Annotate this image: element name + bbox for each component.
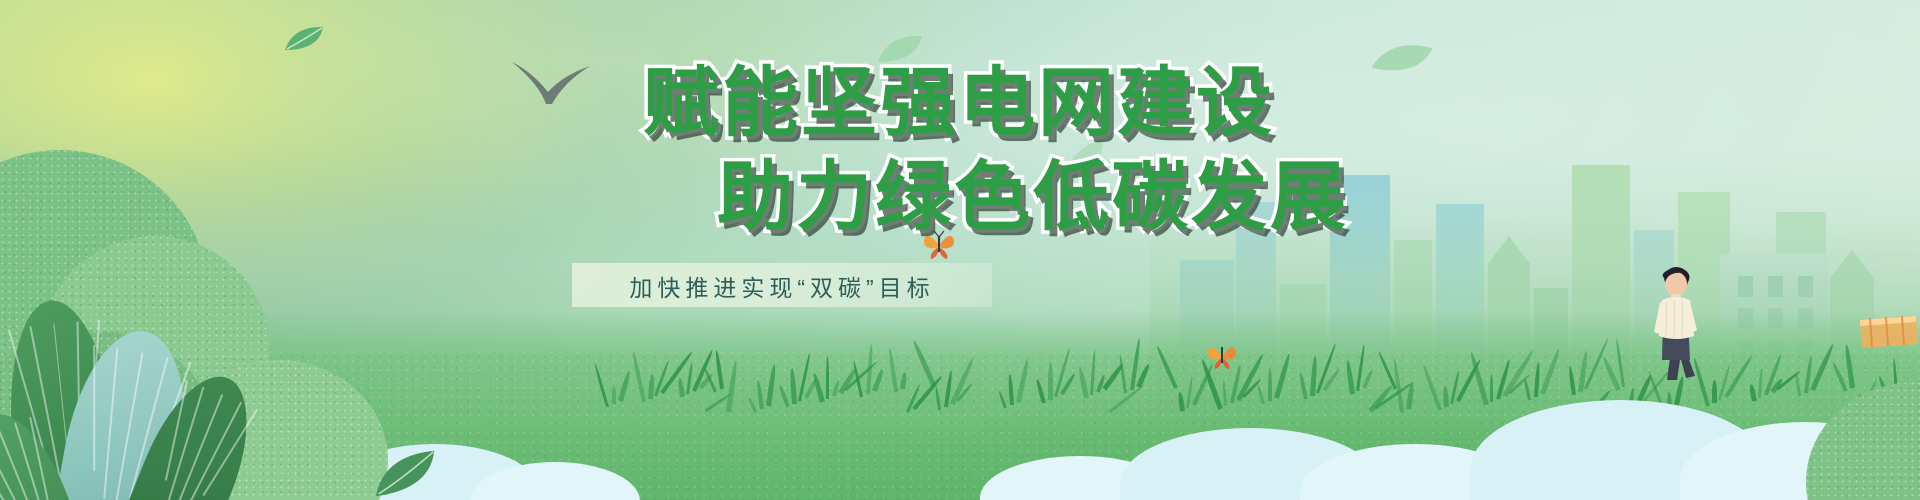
floating-leaf-top-mid [876,32,924,66]
swallow-bird-icon [506,60,596,106]
floating-leaf-top-left [283,24,325,54]
subtitle-text: 加快推进实现“双碳”目标 [572,264,992,308]
eco-power-grid-banner: 赋能坚强电网建设 助力绿色低碳发展 加快推进实现“双碳”目标 [0,0,1920,500]
butterfly-icon-right [1206,340,1238,370]
butterfly-icon-center [922,228,956,260]
floating-leaf-bottom [367,445,443,500]
leaf-vein [93,345,95,471]
